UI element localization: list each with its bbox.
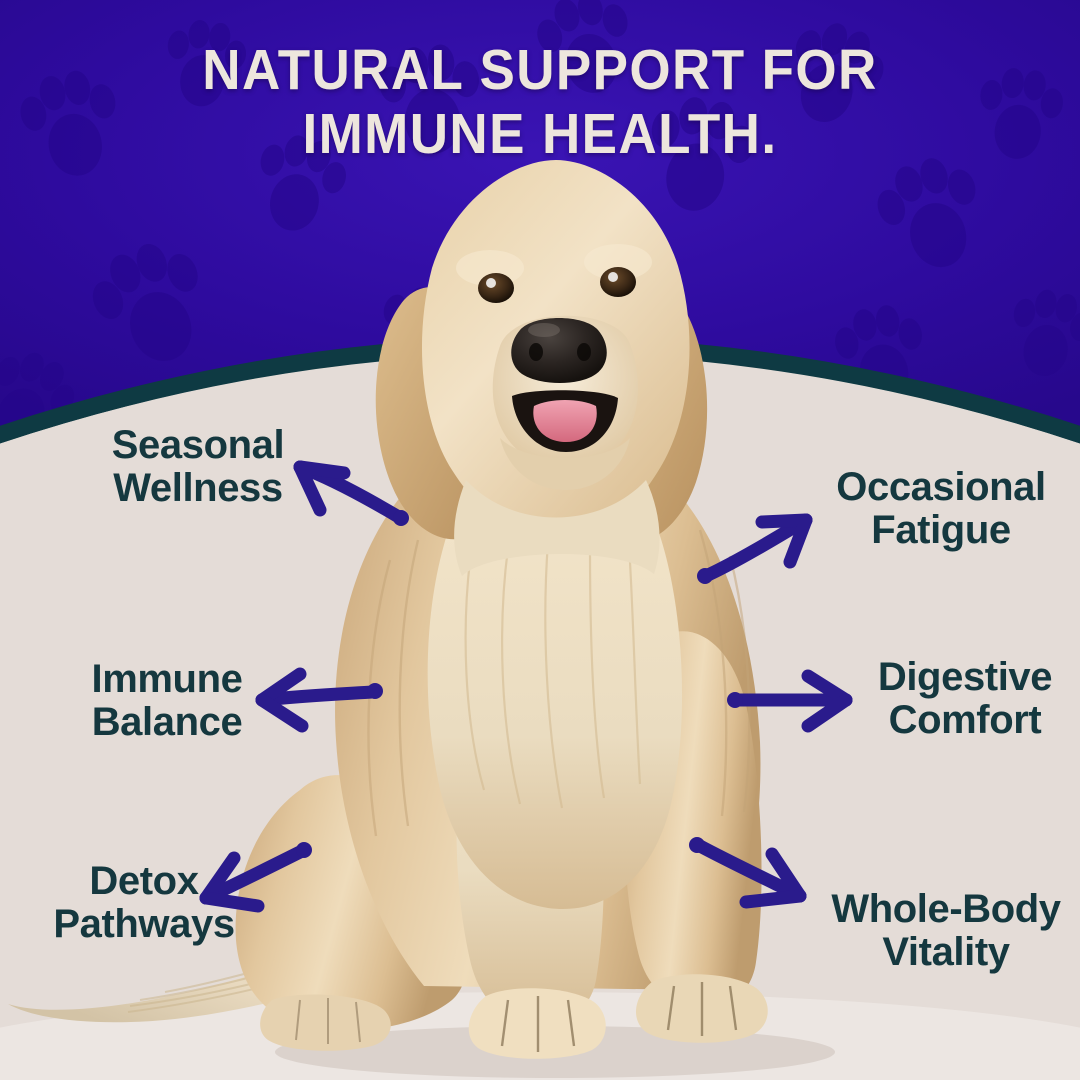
dog-right-eye xyxy=(600,267,636,297)
left-nostril xyxy=(529,343,543,361)
label-line-1: Immune xyxy=(42,658,292,701)
benefit-label-seasonal-wellness[interactable]: Seasonal Wellness xyxy=(62,424,334,510)
label-line-1: Whole-Body xyxy=(812,888,1080,931)
benefit-label-whole-body-vitality[interactable]: Whole-Body Vitality xyxy=(812,888,1080,974)
benefit-label-immune-balance[interactable]: Immune Balance xyxy=(42,658,292,744)
label-line-2: Wellness xyxy=(62,467,334,510)
right-eye-glint xyxy=(608,272,618,282)
dog-hind-paw xyxy=(260,995,391,1051)
label-line-2: Comfort xyxy=(852,699,1078,742)
left-eye-glint xyxy=(486,278,496,288)
label-line-2: Vitality xyxy=(812,931,1080,974)
infographic-canvas: NATURAL SUPPORT FOR IMMUNE HEALTH. xyxy=(0,0,1080,1080)
benefit-label-detox-pathways[interactable]: Detox Pathways xyxy=(20,860,268,946)
label-line-2: Balance xyxy=(42,701,292,744)
label-line-1: Occasional xyxy=(808,466,1074,509)
benefit-label-digestive-comfort[interactable]: Digestive Comfort xyxy=(852,656,1078,742)
right-nostril xyxy=(577,343,591,361)
dog-left-eye xyxy=(478,273,514,303)
label-line-1: Digestive xyxy=(852,656,1078,699)
benefit-label-occasional-fatigue[interactable]: Occasional Fatigue xyxy=(808,466,1074,552)
label-line-2: Pathways xyxy=(20,903,268,946)
label-line-1: Detox xyxy=(20,860,268,903)
label-line-2: Fatigue xyxy=(808,509,1074,552)
label-line-1: Seasonal xyxy=(62,424,334,467)
nose-highlight xyxy=(528,323,560,337)
